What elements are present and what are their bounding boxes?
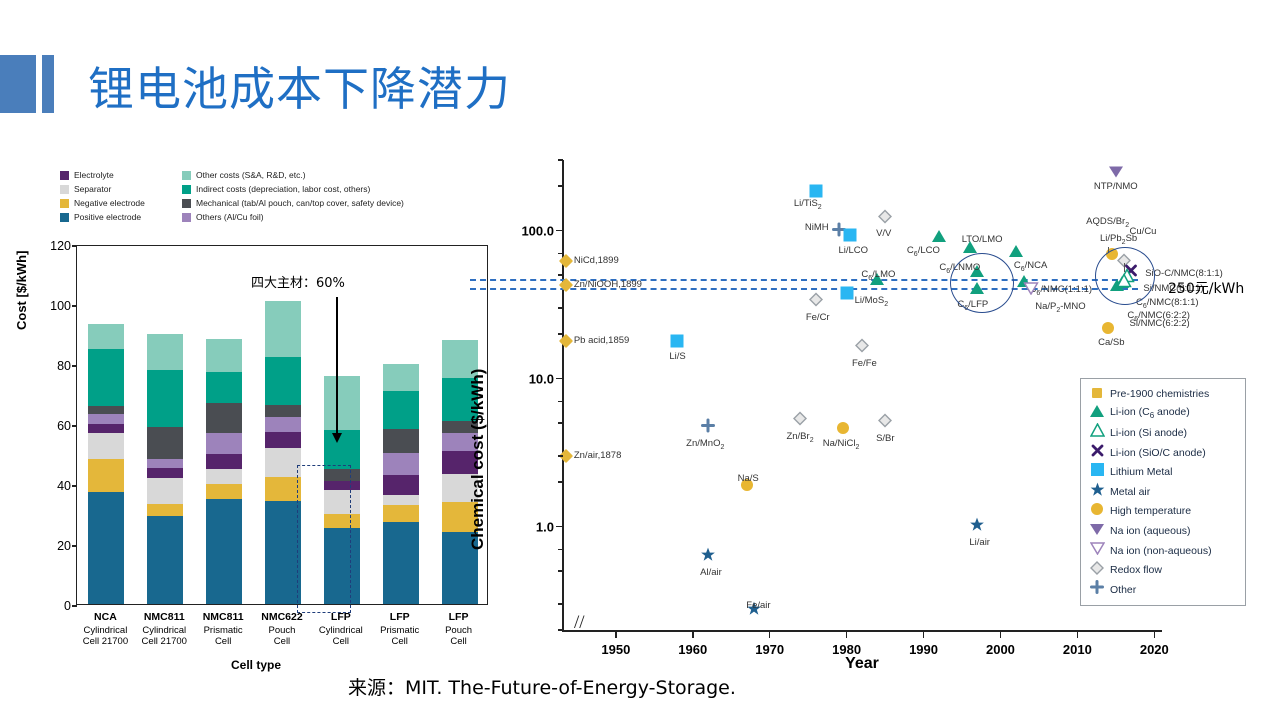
- scatter-point-label: Al/air: [700, 568, 722, 578]
- scatter-point-label: Pb acid,1859: [574, 336, 629, 346]
- scatter-y-minor-tick: [558, 185, 563, 187]
- bar-segment: [88, 433, 124, 459]
- bar-segment: [206, 469, 242, 484]
- bar-segment: [206, 454, 242, 469]
- bar-y-tick: [72, 365, 77, 366]
- legend-label: Mechanical (tab/Al pouch, can/top cover,…: [196, 198, 404, 208]
- page-title: 锂电池成本下降潜力: [88, 53, 511, 119]
- scatter-point-label: AQDS/Br2: [1086, 217, 1129, 231]
- bar-segment: [88, 349, 124, 406]
- legend-label: Separator: [74, 184, 111, 194]
- bar-segment: [147, 370, 183, 427]
- bar-segment: [383, 505, 419, 522]
- bar-segment: [147, 478, 183, 504]
- scatter-point-label: LTO/LMO: [962, 235, 1003, 245]
- diamond-open-icon: [855, 339, 869, 358]
- scatter-point-label: Fe/Fe: [852, 359, 877, 369]
- scatter-y-minor-tick: [558, 159, 563, 161]
- scatter-legend: Pre-1900 chemistriesLi-ion (C6 anode)Li-…: [1080, 378, 1246, 606]
- bar-segment: [324, 430, 360, 469]
- scatter-y-minor-tick: [558, 603, 563, 605]
- bar-y-tick: [72, 545, 77, 546]
- title-accent-block-small: [42, 55, 54, 113]
- scatter-y-tick-label: 100.0: [492, 223, 554, 238]
- scatter-x-tick-label: 1950: [601, 642, 630, 657]
- scatter-y-tick-label: 10.0: [492, 371, 554, 386]
- bar-legend-item: Mechanical (tab/Al pouch, can/top cover,…: [182, 198, 404, 208]
- scatter-x-axis-label: Year: [562, 655, 1162, 673]
- bar-segment: [88, 459, 124, 492]
- bar-chart-highlight-box: [297, 465, 351, 613]
- scatter-highlight-circle: [950, 253, 1014, 313]
- scatter-reference-line: [470, 279, 1138, 281]
- scatter-point-label: C6/NCA: [1014, 261, 1047, 275]
- scatter-point-label: Si/NMC(6:2:2): [1130, 319, 1190, 329]
- scatter-y-tick-label: 1.0: [492, 519, 554, 534]
- scatter-x-tick-label: 2020: [1140, 642, 1169, 657]
- scatter-x-tick: [615, 631, 617, 638]
- bar-segment: [88, 324, 124, 350]
- legend-marker-icon: [1088, 404, 1106, 422]
- legend-label: Indirect costs (depreciation, labor cost…: [196, 184, 370, 194]
- bar-y-tick-label: 20: [57, 539, 71, 553]
- bar-segment: [206, 484, 242, 499]
- scatter-x-tick: [846, 631, 848, 638]
- triangle-down-open-icon: [1024, 282, 1039, 300]
- legend-swatch: [60, 199, 69, 208]
- scatter-point-label: Zn/MnO2: [686, 439, 724, 453]
- scatter-legend-item: Li-ion (SiO/C anode): [1088, 443, 1238, 463]
- bar-stack: [88, 324, 124, 605]
- legend-marker-icon: [1088, 580, 1106, 599]
- bar-y-tick-label: 0: [64, 599, 71, 613]
- bar-segment: [206, 433, 242, 454]
- triangle-up-solid-icon: [932, 230, 946, 242]
- triangle-down-solid-icon: [1090, 524, 1104, 535]
- bar-x-category-label: LFPCylindricalCell: [311, 612, 370, 648]
- legend-swatch: [60, 185, 69, 194]
- scatter-point-label: Na/S: [738, 474, 759, 484]
- legend-label: Other: [1110, 584, 1136, 596]
- bar-chart-annotation-arrow: [336, 297, 338, 434]
- scatter-y-tick: [556, 526, 563, 528]
- bar-segment: [265, 417, 301, 432]
- scatter-legend-item: Li-ion (Si anode): [1088, 423, 1238, 443]
- scatter-x-tick: [1154, 631, 1156, 638]
- bar-segment: [265, 301, 301, 357]
- scatter-plot-area: NiCd,1899Zn/NiOOH,1899Pb acid,1859Zn/air…: [562, 160, 1162, 630]
- bar-chart: ElectrolyteSeparatorNegative electrodePo…: [16, 160, 496, 670]
- legend-label: Lithium Metal: [1110, 466, 1172, 478]
- scatter-legend-item: Redox flow: [1088, 560, 1238, 580]
- annotation-250-yuan-per-kwh: 250元/kWh: [1168, 278, 1244, 298]
- scatter-point-label: Zn/air,1878: [574, 451, 622, 461]
- diamond-solid-icon: [559, 254, 573, 268]
- bar-stack: [206, 339, 242, 605]
- bar-segment: [265, 432, 301, 449]
- scatter-x-tick-label: 1990: [909, 642, 938, 657]
- bar-x-category-label: NMC811PrismaticCell: [194, 612, 253, 648]
- legend-marker-icon: [1088, 502, 1106, 520]
- legend-label: Electrolyte: [74, 170, 114, 180]
- legend-label: Others (Al/Cu foil): [196, 212, 264, 222]
- scatter-point-label: NiCd,1899: [574, 256, 619, 266]
- legend-marker-icon: [1088, 522, 1106, 540]
- square-solid-icon: [844, 229, 857, 242]
- scatter-y-minor-tick: [558, 274, 563, 276]
- bar-segment: [265, 357, 301, 405]
- scatter-point-label: Zn/NiOOH,1899: [574, 280, 642, 290]
- legend-label: Na ion (aqueous): [1110, 525, 1191, 537]
- diamond-solid-icon: [1092, 388, 1102, 398]
- scatter-legend-item: Na ion (aqueous): [1088, 521, 1238, 541]
- circle-solid-icon: [837, 422, 849, 434]
- scatter-legend-item: Metal air: [1088, 482, 1238, 502]
- legend-swatch: [182, 199, 191, 208]
- legend-marker-icon: [1088, 482, 1106, 502]
- bar-chart-y-axis-label: Cost [$/kWh]: [14, 251, 29, 330]
- scatter-point-label: Na/NiCl2: [823, 439, 860, 453]
- bar-legend-item: Separator: [60, 184, 111, 194]
- scatter-point-label: C6/LCO: [907, 246, 940, 260]
- legend-swatch: [182, 185, 191, 194]
- bar-y-tick-label: 120: [50, 239, 71, 253]
- legend-swatch: [182, 171, 191, 180]
- bar-segment: [383, 495, 419, 506]
- scatter-y-axis-label: Chemical cost ($/kWh): [468, 369, 488, 550]
- scatter-x-tick-label: 2010: [1063, 642, 1092, 657]
- bar-segment: [206, 499, 242, 604]
- triangle-down-solid-icon: [1109, 166, 1123, 177]
- scatter-point-label: Cu/Cu: [1130, 227, 1157, 237]
- scatter-y-tick: [556, 230, 563, 232]
- scatter-y-minor-tick: [558, 629, 563, 631]
- bar-segment: [383, 522, 419, 605]
- bar-segment: [206, 339, 242, 372]
- legend-marker-icon: [1088, 423, 1106, 442]
- scatter-legend-item: Other: [1088, 580, 1238, 600]
- legend-label: Li-ion (C6 anode): [1110, 406, 1190, 420]
- scatter-point-label: Zn/Br2: [786, 432, 813, 446]
- scatter-y-minor-tick: [558, 549, 563, 551]
- circle-solid-icon: [1091, 503, 1103, 515]
- star-icon: [1090, 482, 1105, 502]
- bar-x-category-label: NMC811CylindricalCell 21700: [135, 612, 194, 648]
- triangle-up-solid-icon: [1090, 405, 1104, 417]
- bar-segment: [147, 504, 183, 516]
- bar-y-tick-label: 100: [50, 299, 71, 313]
- bar-segment: [265, 405, 301, 417]
- legend-label: High temperature: [1110, 505, 1191, 517]
- square-solid-icon: [1091, 463, 1104, 476]
- scatter-point-label: Li/MoS2: [855, 296, 888, 310]
- bar-segment: [265, 501, 301, 605]
- bar-legend-item: Positive electrode: [60, 212, 141, 222]
- bar-y-tick: [72, 305, 77, 306]
- triangle-down-open-icon: [1090, 542, 1105, 560]
- scatter-point-label: Fe/air: [746, 601, 770, 611]
- bar-segment: [383, 364, 419, 391]
- legend-label: Redox flow: [1110, 564, 1162, 576]
- scatter-point-label: NiMH: [805, 223, 829, 233]
- scatter-point-label: S/Br: [876, 434, 894, 444]
- scatter-legend-item: Na ion (non-aqueous): [1088, 541, 1238, 561]
- scatter-y-minor-tick: [558, 401, 563, 403]
- bar-x-category-label: NCACylindricalCell 21700: [76, 612, 135, 648]
- scatter-y-minor-tick: [558, 455, 563, 457]
- scatter-chart: Chemical cost ($/kWh) // NiCd,1899Zn/NiO…: [462, 150, 1280, 680]
- bar-segment: [265, 477, 301, 501]
- source-note: 来源：MIT. The-Future-of-Energy-Storage.: [348, 673, 736, 700]
- bar-y-tick: [72, 485, 77, 486]
- legend-label: Other costs (S&A, R&D, etc.): [196, 170, 306, 180]
- bar-segment: [383, 475, 419, 495]
- legend-marker-icon: [1088, 463, 1106, 481]
- diamond-open-icon: [793, 411, 807, 430]
- triangle-up-open-icon: [1090, 423, 1105, 442]
- legend-label: Pre-1900 chemistries: [1110, 388, 1209, 400]
- scatter-point-label: C6/LMO: [861, 270, 895, 284]
- scatter-point-label: NTP/NMO: [1094, 182, 1138, 192]
- legend-swatch: [60, 171, 69, 180]
- scatter-point-label: C6/NMC(1:1:1): [1030, 285, 1093, 299]
- scatter-y-minor-tick: [558, 333, 563, 335]
- bar-segment: [206, 372, 242, 404]
- scatter-x-tick: [923, 631, 925, 638]
- bar-segment: [206, 403, 242, 433]
- diamond-solid-icon: [559, 334, 573, 348]
- legend-swatch: [60, 213, 69, 222]
- legend-label: Negative electrode: [74, 198, 145, 208]
- bar-segment: [88, 406, 124, 414]
- bar-y-tick-label: 80: [57, 359, 71, 373]
- square-solid-icon: [840, 286, 853, 299]
- bar-x-category-label: NMC622PouchCell: [253, 612, 312, 648]
- legend-label: Positive electrode: [74, 212, 141, 222]
- bar-chart-legend: ElectrolyteSeparatorNegative electrodePo…: [60, 170, 500, 234]
- bar-segment: [147, 516, 183, 605]
- scatter-x-axis: [562, 630, 1162, 632]
- legend-label: Na ion (non-aqueous): [1110, 545, 1212, 557]
- legend-label: Li-ion (SiO/C anode): [1110, 447, 1206, 459]
- bar-y-tick: [72, 245, 77, 246]
- diamond-open-icon: [878, 209, 892, 228]
- star-icon: [701, 547, 716, 567]
- legend-label: Li-ion (Si anode): [1110, 427, 1187, 439]
- bar-legend-item: Electrolyte: [60, 170, 114, 180]
- scatter-legend-item: Pre-1900 chemistries: [1088, 384, 1238, 404]
- bar-segment: [147, 459, 183, 468]
- scatter-point-label: Li/air: [969, 538, 990, 548]
- scatter-point-label: Li/LCO: [838, 246, 868, 256]
- circle-solid-icon: [1102, 322, 1114, 334]
- scatter-x-tick-label: 2000: [986, 642, 1015, 657]
- diamond-open-icon: [878, 414, 892, 433]
- scatter-point-label: Li/TiS2: [794, 199, 822, 213]
- bar-segment: [88, 492, 124, 605]
- legend-swatch: [182, 213, 191, 222]
- bar-segment: [265, 448, 301, 477]
- legend-marker-icon: [1088, 542, 1106, 560]
- bar-x-category-label: LFPPrismaticCell: [370, 612, 429, 648]
- legend-marker-icon: [1088, 561, 1106, 580]
- scatter-x-tick: [1077, 631, 1079, 638]
- bar-chart-x-axis-label: Cell type: [16, 658, 496, 672]
- scatter-point-label: Na/P2-MNO: [1035, 302, 1085, 316]
- scatter-x-tick-label: 1960: [678, 642, 707, 657]
- square-solid-icon: [809, 185, 822, 198]
- bar-chart-annotation-four-materials: 四大主材：60%: [251, 272, 345, 291]
- star-icon: [970, 517, 985, 537]
- scatter-point-label: V/V: [876, 229, 891, 239]
- scatter-point-label: Ca/Sb: [1098, 338, 1124, 348]
- bar-stack: [265, 301, 301, 604]
- scatter-point-label: Li/S: [669, 352, 685, 362]
- scatter-y-minor-tick: [558, 422, 563, 424]
- bar-y-tick: [72, 425, 77, 426]
- scatter-x-tick: [692, 631, 694, 638]
- bar-y-tick-label: 60: [57, 419, 71, 433]
- plus-icon: [701, 419, 715, 438]
- bar-segment: [383, 453, 419, 476]
- bar-segment: [147, 427, 183, 459]
- bar-segment: [88, 414, 124, 425]
- scatter-y-minor-tick: [558, 570, 563, 572]
- legend-marker-icon: [1088, 444, 1106, 462]
- bar-legend-item: Indirect costs (depreciation, labor cost…: [182, 184, 370, 194]
- slide-title-bar: 锂电池成本下降潜力: [0, 55, 1280, 115]
- legend-label: Metal air: [1110, 486, 1150, 498]
- bar-segment: [383, 429, 419, 453]
- bar-segment: [383, 391, 419, 429]
- scatter-point-label: Fe/Cr: [806, 313, 830, 323]
- scatter-x-tick: [769, 631, 771, 638]
- square-solid-icon: [671, 334, 684, 347]
- scatter-legend-item: High temperature: [1088, 502, 1238, 522]
- scatter-x-tick-label: 1980: [832, 642, 861, 657]
- bar-y-tick: [72, 605, 77, 606]
- scatter-y-minor-tick: [558, 481, 563, 483]
- scatter-x-tick: [1000, 631, 1002, 638]
- plus-icon: [1090, 580, 1104, 599]
- scatter-legend-item: Li-ion (C6 anode): [1088, 404, 1238, 424]
- bar-stack: [383, 364, 419, 604]
- scatter-y-minor-tick: [558, 253, 563, 255]
- bar-y-tick-label: 40: [57, 479, 71, 493]
- bar-legend-item: Others (Al/Cu foil): [182, 212, 264, 222]
- scatter-y-minor-tick: [558, 307, 563, 309]
- x-marker-icon: [1091, 444, 1104, 462]
- scatter-highlight-circle: [1095, 247, 1155, 305]
- scatter-legend-item: Lithium Metal: [1088, 462, 1238, 482]
- diamond-open-icon: [1090, 561, 1104, 580]
- bar-segment: [147, 468, 183, 479]
- scatter-x-tick-label: 1970: [755, 642, 784, 657]
- triangle-up-solid-icon: [1009, 245, 1023, 257]
- title-accent-block-large: [0, 55, 36, 113]
- bar-legend-item: Other costs (S&A, R&D, etc.): [182, 170, 306, 180]
- bar-segment: [324, 376, 360, 430]
- bar-chart-plot-area: 020406080100120: [76, 245, 488, 605]
- bar-stack: [147, 334, 183, 604]
- legend-marker-icon: [1088, 385, 1106, 403]
- bar-segment: [88, 424, 124, 433]
- scatter-y-tick: [556, 378, 563, 380]
- diamond-open-icon: [809, 292, 823, 311]
- bar-legend-item: Negative electrode: [60, 198, 145, 208]
- bar-segment: [147, 334, 183, 370]
